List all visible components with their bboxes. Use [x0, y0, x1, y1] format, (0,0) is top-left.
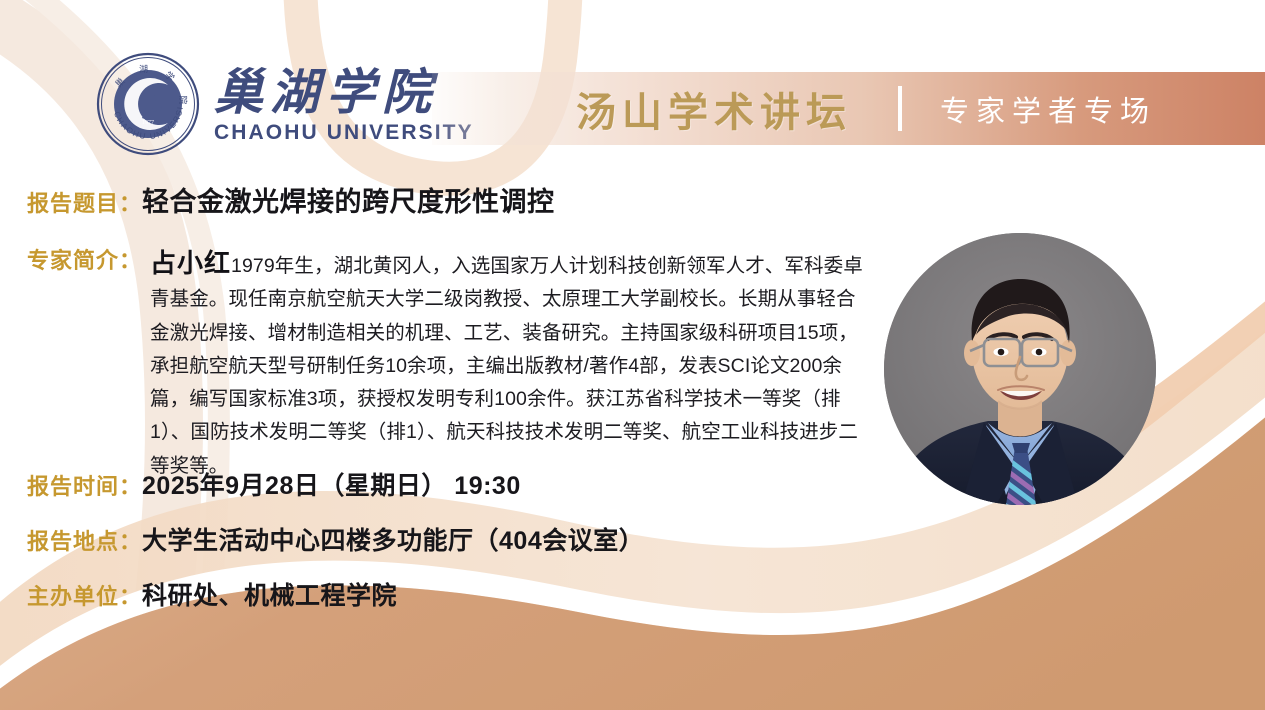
- report-place-label: 报告地点：: [27, 524, 142, 556]
- forum-banner: 汤山学术讲坛 专家学者专场: [432, 72, 1265, 145]
- report-place-value: 大学生活动中心四楼多功能厅（404会议室）: [142, 521, 644, 557]
- banner-divider: [898, 86, 902, 131]
- host-organization-row: 主办单位： 科研处、机械工程学院: [27, 576, 397, 612]
- report-place-row: 报告地点： 大学生活动中心四楼多功能厅（404会议室）: [27, 521, 644, 557]
- report-title-row: 报告题目： 轻合金激光焊接的跨尺度形性调控: [27, 180, 555, 219]
- report-title-value: 轻合金激光焊接的跨尺度形性调控: [142, 180, 555, 219]
- speaker-portrait: [884, 233, 1156, 505]
- banner-main-title: 汤山学术讲坛: [576, 80, 852, 138]
- report-title-label: 报告题目：: [27, 186, 142, 218]
- university-emblem-icon: 1977 巢 湖 学 院 CHAOHU UNIVERSITY: [96, 52, 200, 156]
- report-time-value: 2025年9月28日（星期日） 19:30: [142, 466, 521, 502]
- host-organization-label: 主办单位：: [27, 579, 142, 611]
- speaker-bio-row: 专家简介：: [27, 243, 142, 275]
- speaker-bio-text: 1979年生，湖北黄冈人，入选国家万人计划科技创新领军人才、军科委卓青基金。现任…: [150, 255, 863, 477]
- svg-text:1977: 1977: [142, 120, 154, 126]
- speaker-portrait-image: [884, 233, 1156, 505]
- speaker-bio-label: 专家简介：: [27, 243, 142, 275]
- host-organization-value: 科研处、机械工程学院: [142, 576, 397, 612]
- speaker-name: 占小红: [150, 248, 231, 278]
- banner-sub-title: 专家学者专场: [940, 88, 1156, 130]
- report-time-label: 报告时间：: [27, 469, 142, 501]
- seminar-poster: 1977 巢 湖 学 院 CHAOHU UNIVERSITY 巢湖学院 CHAO…: [0, 0, 1265, 710]
- report-time-row: 报告时间： 2025年9月28日（星期日） 19:30: [27, 466, 521, 502]
- speaker-bio-body: 占小红1979年生，湖北黄冈人，入选国家万人计划科技创新领军人才、军科委卓青基金…: [150, 243, 872, 483]
- university-logo-block: 1977 巢 湖 学 院 CHAOHU UNIVERSITY 巢湖学院 CHAO…: [96, 52, 474, 156]
